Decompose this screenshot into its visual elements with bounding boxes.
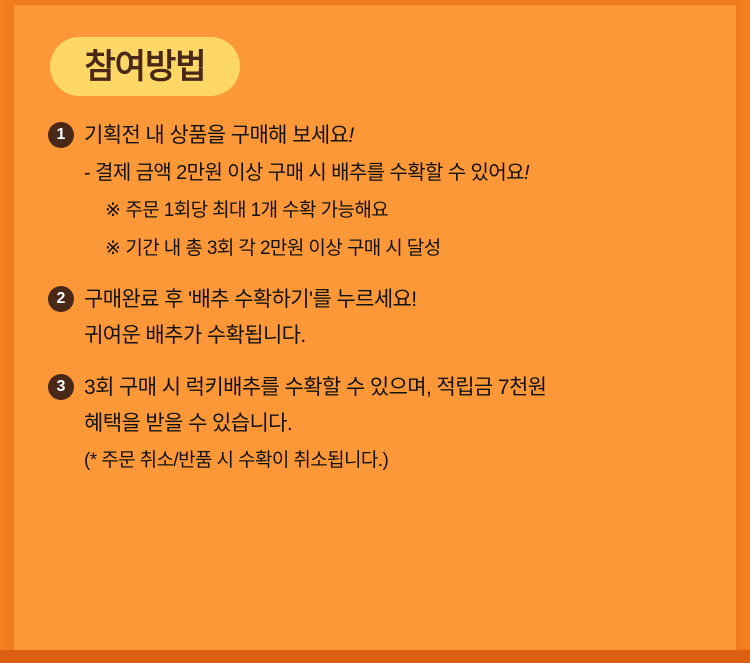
spacer	[0, 360, 750, 370]
step-number-badge-3: 3	[48, 374, 74, 400]
section-title-badge: 참여방법	[50, 37, 240, 96]
reference-mark-icon: ※	[105, 238, 120, 259]
step-1-note-1: ※주문 1회당 최대 1개 수확 가능해요	[0, 192, 750, 230]
step-3-head: 3 3회 구매 시 럭키배추를 수확할 수 있으며, 적립금 7천원	[0, 370, 750, 406]
bottom-accent-bar	[0, 650, 750, 663]
step-item-2: 2 구매완료 후 '배추 수확하기'를 누르세요! 귀여운 배추가 수확됩니다.	[0, 282, 750, 354]
step-item-3: 3 3회 구매 시 럭키배추를 수확할 수 있으며, 적립금 7천원 혜택을 받…	[0, 370, 750, 480]
steps-list: 1 기획전 내 상품을 구매해 보세요! - 결제 금액 2만원 이상 구매 시…	[0, 118, 750, 486]
section-title-text: 참여방법	[84, 50, 205, 84]
spacer	[0, 274, 750, 282]
step-1-title: 기획전 내 상품을 구매해 보세요!	[84, 118, 354, 154]
step-1-dash-emphasis: !	[524, 162, 529, 184]
step-2-head: 2 구매완료 후 '배추 수확하기'를 누르세요!	[0, 282, 750, 318]
step-3-disclaimer: (* 주문 취소/반품 시 수확이 취소됩니다.)	[0, 442, 750, 480]
step-2-title: 구매완료 후 '배추 수확하기'를 누르세요!	[84, 282, 417, 318]
reference-mark-icon: ※	[105, 200, 120, 221]
step-1-note-1-text: 주문 1회당 최대 1개 수확 가능해요	[125, 200, 388, 221]
step-number-badge-1: 1	[48, 122, 74, 148]
step-1-head: 1 기획전 내 상품을 구매해 보세요!	[0, 118, 750, 154]
step-1-title-emphasis: !	[348, 124, 353, 147]
step-1-note-2: ※기간 내 총 3회 각 2만원 이상 구매 시 달성	[0, 230, 750, 268]
step-1-dash-text: - 결제 금액 2만원 이상 구매 시 배추를 수확할 수 있어요	[84, 162, 524, 184]
step-item-1: 1 기획전 내 상품을 구매해 보세요! - 결제 금액 2만원 이상 구매 시…	[0, 118, 750, 268]
step-2-continuation: 귀여운 배추가 수확됩니다.	[0, 318, 750, 354]
step-1-title-text: 기획전 내 상품을 구매해 보세요	[84, 124, 348, 147]
step-1-dash-line: - 결제 금액 2만원 이상 구매 시 배추를 수확할 수 있어요!	[0, 154, 750, 192]
promotion-banner: 참여방법 1 기획전 내 상품을 구매해 보세요! - 결제 금액 2만원 이상…	[0, 0, 750, 663]
step-3-continuation: 혜택을 받을 수 있습니다.	[0, 406, 750, 442]
step-1-note-2-text: 기간 내 총 3회 각 2만원 이상 구매 시 달성	[125, 238, 440, 259]
step-number-badge-2: 2	[48, 286, 74, 312]
step-3-title: 3회 구매 시 럭키배추를 수확할 수 있으며, 적립금 7천원	[84, 370, 546, 406]
